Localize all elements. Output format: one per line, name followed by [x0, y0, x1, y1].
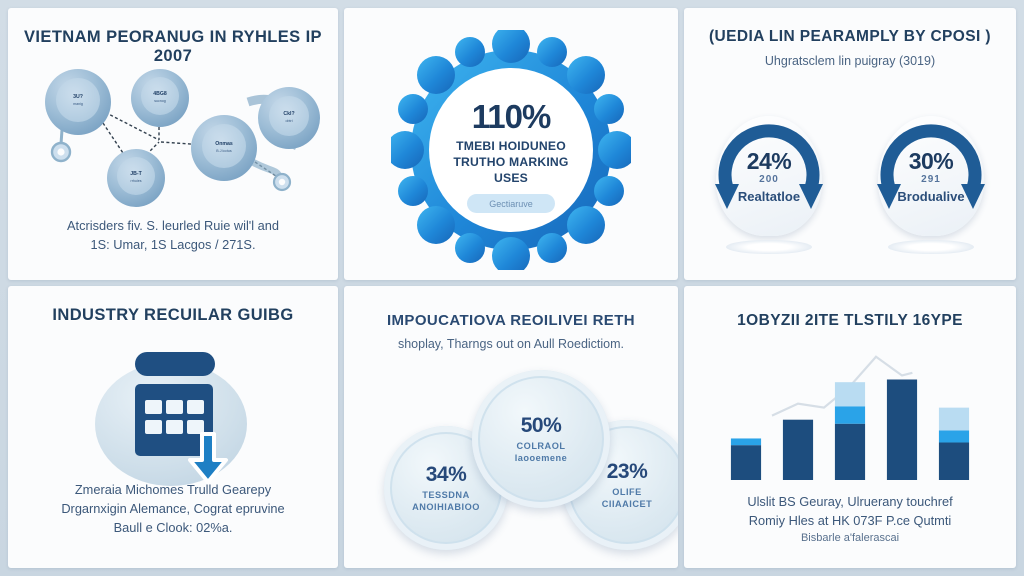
bars-caption: Ulslit BS Geuray, Ulruerany touchref Rom…	[696, 492, 1004, 547]
circle-label: TESSDNA ANOIHIABIOO	[412, 489, 480, 514]
circle-label-line1: OLIFE	[612, 487, 642, 497]
circle-label: OLIFE CIIAAICET	[602, 486, 652, 511]
bar-segment[interactable]	[939, 442, 969, 480]
bar-segment[interactable]	[887, 380, 917, 481]
network-node[interactable]: 3U? manig	[45, 69, 111, 135]
node-sublabel: manig	[73, 102, 83, 106]
calendar-download-icon[interactable]	[63, 338, 283, 503]
gauge-label: Brodualive	[864, 189, 998, 204]
circle-label-line1: TESSDNA	[422, 490, 469, 500]
node-sublabel: sucnog	[154, 99, 166, 103]
network-node[interactable]: Onmas B.J lcctus	[191, 115, 257, 181]
circle-label-line1: COLRAOL	[517, 441, 566, 451]
bars-title: 1OBYZII 2ITE TLSTILY 16YPE	[694, 312, 1006, 330]
circle-label: COLRAOL laooemene	[515, 440, 568, 465]
bar-segment[interactable]	[731, 438, 761, 445]
industry-caption: Zmeraia Michomes Trulld Gearepy Drgarnxi…	[20, 480, 326, 538]
gauge-item[interactable]: 30% 291 Brodualive	[864, 114, 998, 264]
gauge-percent: 24%	[702, 148, 836, 175]
bars-caption-line3: Bisbarle a'falerascai	[696, 530, 1004, 547]
bar-segment[interactable]	[731, 445, 761, 480]
node-label: JB-T	[130, 171, 142, 177]
network-node[interactable]: Ckl? obtri	[258, 87, 320, 149]
gauges-subtitle: Uhgratsclem lin puigray (3019)	[698, 53, 1002, 70]
circles-subtitle: shoplay, Tharngs out on Aull Roedictiom.	[358, 336, 664, 353]
network-connector-icon	[52, 143, 70, 161]
gauges-title: (UEDIA LIN PEARAMPLY BY CPOSI )	[694, 28, 1006, 46]
node-sublabel: rrhuies	[131, 179, 142, 183]
gear-svg: 110% TMEBI HOIDUNEO TRUTHO MARKING USES …	[391, 30, 631, 270]
panel-circles: IMPOUCATIOVA REOILIVEI RETH shoplay, Tha…	[344, 286, 678, 568]
gear-line2: TRUTHO MARKING	[453, 155, 568, 169]
gauge-text: 24% 200 Realtatloe	[702, 148, 836, 204]
node-label: 4BG8	[153, 91, 167, 97]
panel-industry: INDUSTRY RECUILAR GUIBG	[8, 286, 338, 568]
circle-percent: 23%	[607, 460, 648, 484]
industry-caption-line1: Zmeraia Michomes Trulld Gearepy	[20, 480, 326, 499]
bar-segment[interactable]	[939, 430, 969, 442]
gear-badge-label: Gectiaruve	[489, 199, 533, 209]
node-label: Ckl?	[283, 111, 294, 117]
bar-chart	[684, 338, 1016, 498]
gear-line3: USES	[494, 171, 528, 185]
panel-gear-metric: 110% TMEBI HOIDUNEO TRUTHO MARKING USES …	[344, 8, 678, 280]
network-caption-line1: Atcrisders fiv. S. leurled Ruie wil'l an…	[20, 216, 326, 235]
gear-badge[interactable]: Gectiaruve	[467, 194, 555, 213]
gauge-item[interactable]: 24% 200 Realtatloe	[702, 114, 836, 264]
node-sublabel: obtri	[286, 119, 293, 123]
panel-network: VIETNAM PEORANUG IN RYHLES IP 2007	[8, 8, 338, 280]
circles-title: IMPOUCATIOVA REOILIVEI RETH	[354, 312, 668, 329]
node-label: Onmas	[215, 141, 233, 147]
panel-bar-chart: 1OBYZII 2ITE TLSTILY 16YPE Ulslit BS Geu…	[684, 286, 1016, 568]
network-caption-line2: 1S: Umar, 1S Lacgos / 271S.	[20, 235, 326, 254]
bar-segment[interactable]	[783, 420, 813, 480]
gauge-base-shadow	[888, 240, 974, 254]
circle-label-line2: laooemene	[515, 453, 568, 463]
circle-label-line2: ANOIHIABIOO	[412, 502, 480, 512]
gauge-text: 30% 291 Brodualive	[864, 148, 998, 204]
gear-percent: 110%	[472, 98, 551, 135]
network-diagram: 3U? manig 4BG8 sucnog JB-T rrhuies	[8, 60, 338, 210]
gauge-percent: 30%	[864, 148, 998, 175]
infographic-canvas: VIETNAM PEORANUG IN RYHLES IP 2007	[0, 0, 1024, 576]
bar-segment[interactable]	[835, 424, 865, 480]
gear-graphic: 110% TMEBI HOIDUNEO TRUTHO MARKING USES …	[344, 30, 678, 280]
calendar-header-bar	[135, 352, 215, 376]
industry-title: INDUSTRY RECUILAR GUIBG	[18, 306, 328, 325]
circle-percent: 34%	[426, 463, 467, 487]
bars-caption-line2: Romiy Hles at HK 073F P.ce Qutmti	[696, 511, 1004, 530]
circle-stat[interactable]: 50% COLRAOL laooemene	[472, 370, 610, 508]
node-label: 3U?	[73, 94, 83, 100]
bar-segment[interactable]	[835, 406, 865, 423]
gauge-label: Realtatloe	[702, 189, 836, 204]
network-connector-icon-2	[274, 174, 290, 190]
bar-chart-svg[interactable]	[720, 338, 980, 488]
network-svg: 3U? manig 4BG8 sucnog JB-T rrhuies	[23, 60, 323, 210]
network-node[interactable]: JB-T rrhuies	[107, 149, 165, 207]
gauge-mini-value: 200	[702, 174, 836, 185]
panel-gauges: (UEDIA LIN PEARAMPLY BY CPOSI ) Uhgratsc…	[684, 8, 1016, 280]
bars-caption-line1: Ulslit BS Geuray, Ulruerany touchref	[696, 492, 1004, 511]
bar-segment[interactable]	[835, 382, 865, 406]
gauges-row: 24% 200 Realtatloe 30% 291 Brodualive	[684, 114, 1016, 264]
circles-group: 34% TESSDNA ANOIHIABIOO 50% COLRAOL laoo…	[344, 370, 678, 550]
gauge-mini-value: 291	[864, 174, 998, 185]
industry-caption-line2: Drgarnxigin Alemance, Cograt epruvine	[20, 499, 326, 518]
gauge-base-shadow	[726, 240, 812, 254]
network-caption: Atcrisders fiv. S. leurled Ruie wil'l an…	[20, 216, 326, 254]
node-sublabel: B.J lcctus	[216, 149, 232, 153]
gear-line1: TMEBI HOIDUNEO	[456, 139, 566, 153]
circle-percent: 50%	[521, 414, 562, 438]
industry-caption-line3: Baull e Clook: 02%a.	[20, 518, 326, 537]
circle-label-line2: CIIAAICET	[602, 499, 652, 509]
network-node[interactable]: 4BG8 sucnog	[131, 69, 189, 127]
bar-segment[interactable]	[939, 408, 969, 431]
